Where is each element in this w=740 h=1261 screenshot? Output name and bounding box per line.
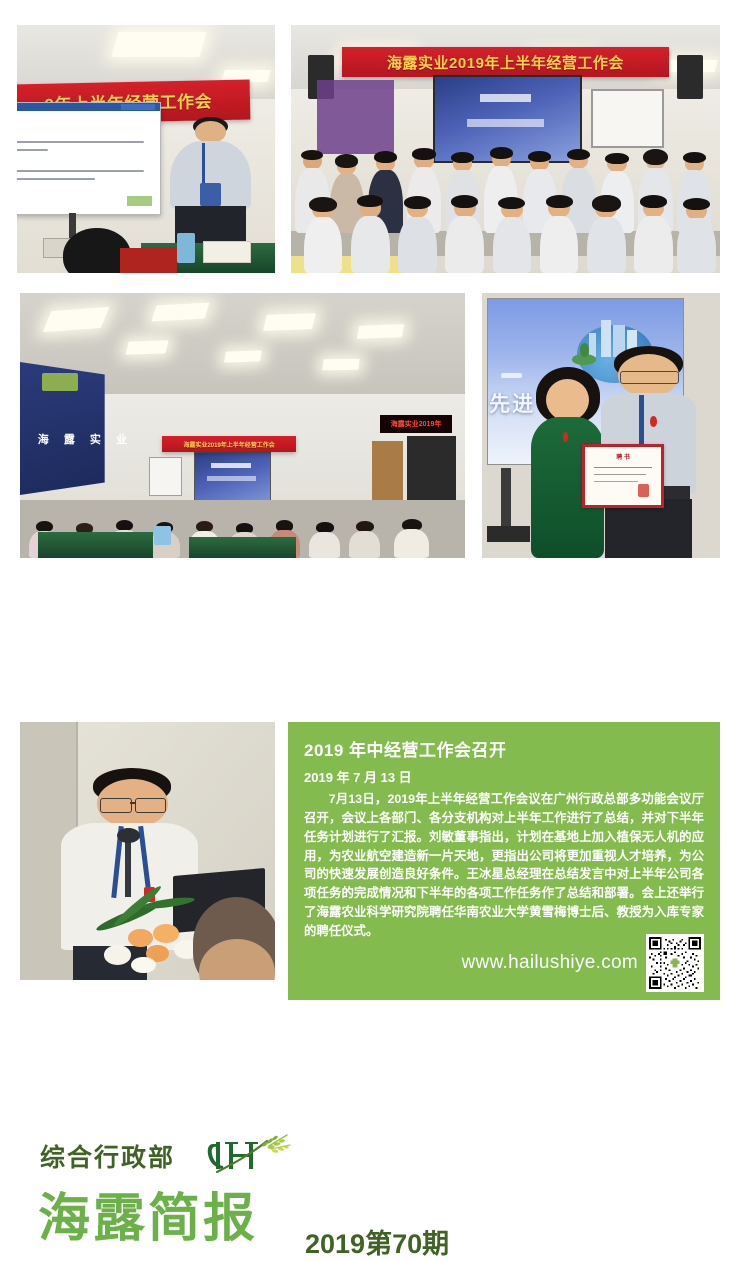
article-panel: 2019 年中经营工作会召开 2019 年 7 月 13 日 7月13日，201… <box>288 722 720 1000</box>
led-display: 海露实业2019年 <box>380 415 451 434</box>
department-label: 综合行政部 <box>40 1138 175 1174</box>
banner-label: 海露实业2019年上半年经营工作会 <box>387 52 624 73</box>
screen-text-award: 先进 <box>489 388 535 418</box>
photo-group-portrait: 海露实业2019年上半年经营工作会 <box>291 25 720 273</box>
website-url[interactable]: www.hailushiye.com <box>462 952 638 974</box>
banner-text-group: 海露实业2019年上半年经营工作会 <box>342 47 668 77</box>
qr-code[interactable] <box>646 934 704 992</box>
photo-presenter-red-banner: 9年上半年经营工作会 <box>17 25 275 273</box>
masthead: 综合行政部 <box>0 560 740 718</box>
led-label: 海露实业2019年 <box>391 419 442 429</box>
photo-conference-hall: 海 露 实 业 海露实业2019年上半年经营工作会 海露实业2019年 <box>20 293 465 558</box>
certificate-title: 聘 书 <box>616 452 630 461</box>
issue-label: 2019第70期 <box>305 1222 449 1261</box>
banner-label: 海露实业2019年上半年经营工作会 <box>183 440 274 449</box>
banner-text-hall: 海露实业2019年上半年经营工作会 <box>162 436 296 452</box>
photo-award-ceremony: 先进 聘 <box>482 293 720 558</box>
wall-brand-text: 海 露 实 业 <box>38 431 133 447</box>
newsletter-page: 9年上半年经营工作会 <box>0 0 740 1047</box>
article-title: 2019 年中经营工作会召开 <box>304 736 704 761</box>
article-body: 7月13日，2019年上半年经营工作会议在广州行政总部多功能会议厅召开，会议上各… <box>304 790 704 941</box>
lh-monogram-logo <box>205 1132 301 1178</box>
article-footer: www.hailushiye.com <box>462 934 704 992</box>
page-title: 海露简报 <box>38 1193 258 1245</box>
photo-speaker-podium <box>20 722 275 980</box>
article-date: 2019 年 7 月 13 日 <box>304 767 704 786</box>
